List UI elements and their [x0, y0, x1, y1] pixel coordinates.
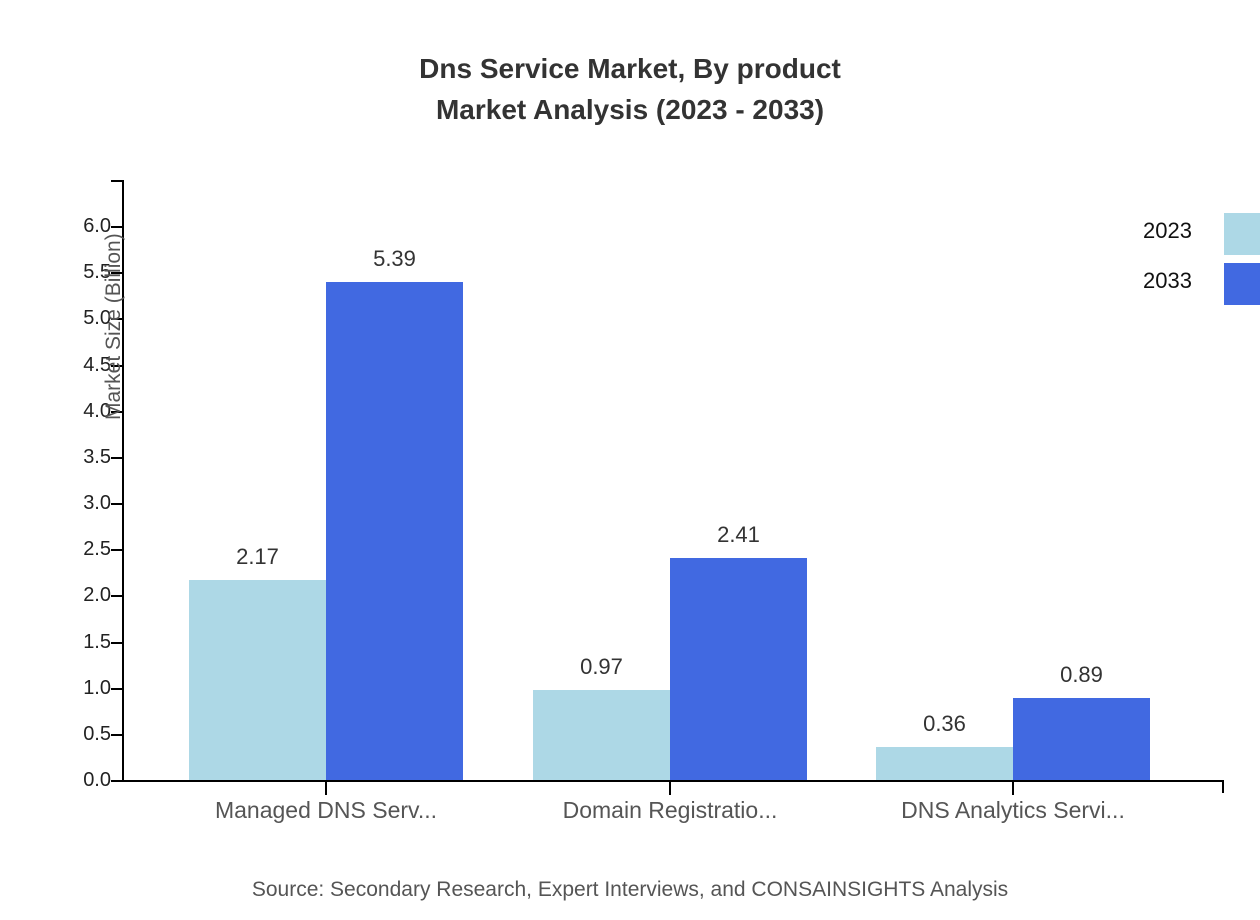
x-axis-end-cap — [1222, 780, 1224, 793]
legend-item-2033[interactable]: 2033 — [1100, 263, 1260, 305]
y-axis-tick-label: 4.5 — [0, 354, 111, 377]
y-axis-tick — [111, 780, 122, 782]
y-axis-tick-label: 3.0 — [0, 492, 111, 515]
legend-label: 2023 — [1143, 218, 1192, 244]
legend-swatch — [1224, 213, 1260, 255]
bar-value-label: 5.39 — [295, 246, 495, 272]
y-axis-tick — [111, 503, 122, 505]
bar-2023-2[interactable] — [533, 690, 670, 780]
bar-value-label: 2.41 — [639, 522, 839, 548]
y-axis-tick-label: 1.0 — [0, 677, 111, 700]
bar-2033-1[interactable] — [326, 282, 463, 780]
y-axis-tick — [111, 688, 122, 690]
y-axis-tick — [111, 642, 122, 644]
y-axis-tick-label: 5.5 — [0, 261, 111, 284]
y-axis-tick-label: 4.0 — [0, 400, 111, 423]
x-axis-tick — [1012, 782, 1014, 795]
bar-chart: Dns Service Market, By product Market An… — [0, 0, 1260, 920]
y-axis-tick-label: 0.0 — [0, 769, 111, 792]
y-axis-tick-label: 3.5 — [0, 446, 111, 469]
y-axis-tick-label: 2.0 — [0, 584, 111, 607]
legend-swatch — [1224, 263, 1260, 305]
legend-item-2023[interactable]: 2023 — [1100, 213, 1260, 255]
bar-2033-3[interactable] — [1013, 698, 1150, 780]
y-axis-tick-label: 1.5 — [0, 631, 111, 654]
x-axis-category-label: Managed DNS Serv... — [146, 797, 506, 824]
y-axis-tick — [111, 734, 122, 736]
chart-title: Dns Service Market, By product Market An… — [0, 48, 1260, 130]
y-axis-tick — [111, 226, 122, 228]
chart-title-line-2: Market Analysis (2023 - 2033) — [0, 89, 1260, 130]
chart-legend: 20232033 — [1100, 213, 1260, 303]
bar-2023-1[interactable] — [189, 580, 326, 780]
y-axis-tick-label: 6.0 — [0, 215, 111, 238]
chart-source-note: Source: Secondary Research, Expert Inter… — [0, 878, 1260, 902]
x-axis-category-label: Domain Registratio... — [490, 797, 850, 824]
bar-value-label: 0.89 — [982, 662, 1182, 688]
x-axis-tick — [325, 782, 327, 795]
legend-label: 2033 — [1143, 268, 1192, 294]
y-axis-top-cap — [111, 180, 124, 182]
y-axis-tick-label: 2.5 — [0, 538, 111, 561]
plot-area: 0.00.51.01.52.02.53.03.54.04.55.05.56.0 … — [122, 180, 1224, 781]
y-axis-tick — [111, 595, 122, 597]
x-axis-category-label: DNS Analytics Servi... — [833, 797, 1193, 824]
y-axis-tick-label: 0.5 — [0, 723, 111, 746]
y-axis-tick-label: 5.0 — [0, 307, 111, 330]
x-axis-tick — [669, 782, 671, 795]
bar-2033-2[interactable] — [670, 558, 807, 780]
y-axis-title: Market Size (Billion) — [102, 233, 126, 420]
x-axis-line — [122, 780, 1224, 782]
y-axis-tick — [111, 457, 122, 459]
bar-2023-3[interactable] — [876, 747, 1013, 780]
chart-title-line-1: Dns Service Market, By product — [419, 53, 841, 84]
y-axis-tick — [111, 549, 122, 551]
